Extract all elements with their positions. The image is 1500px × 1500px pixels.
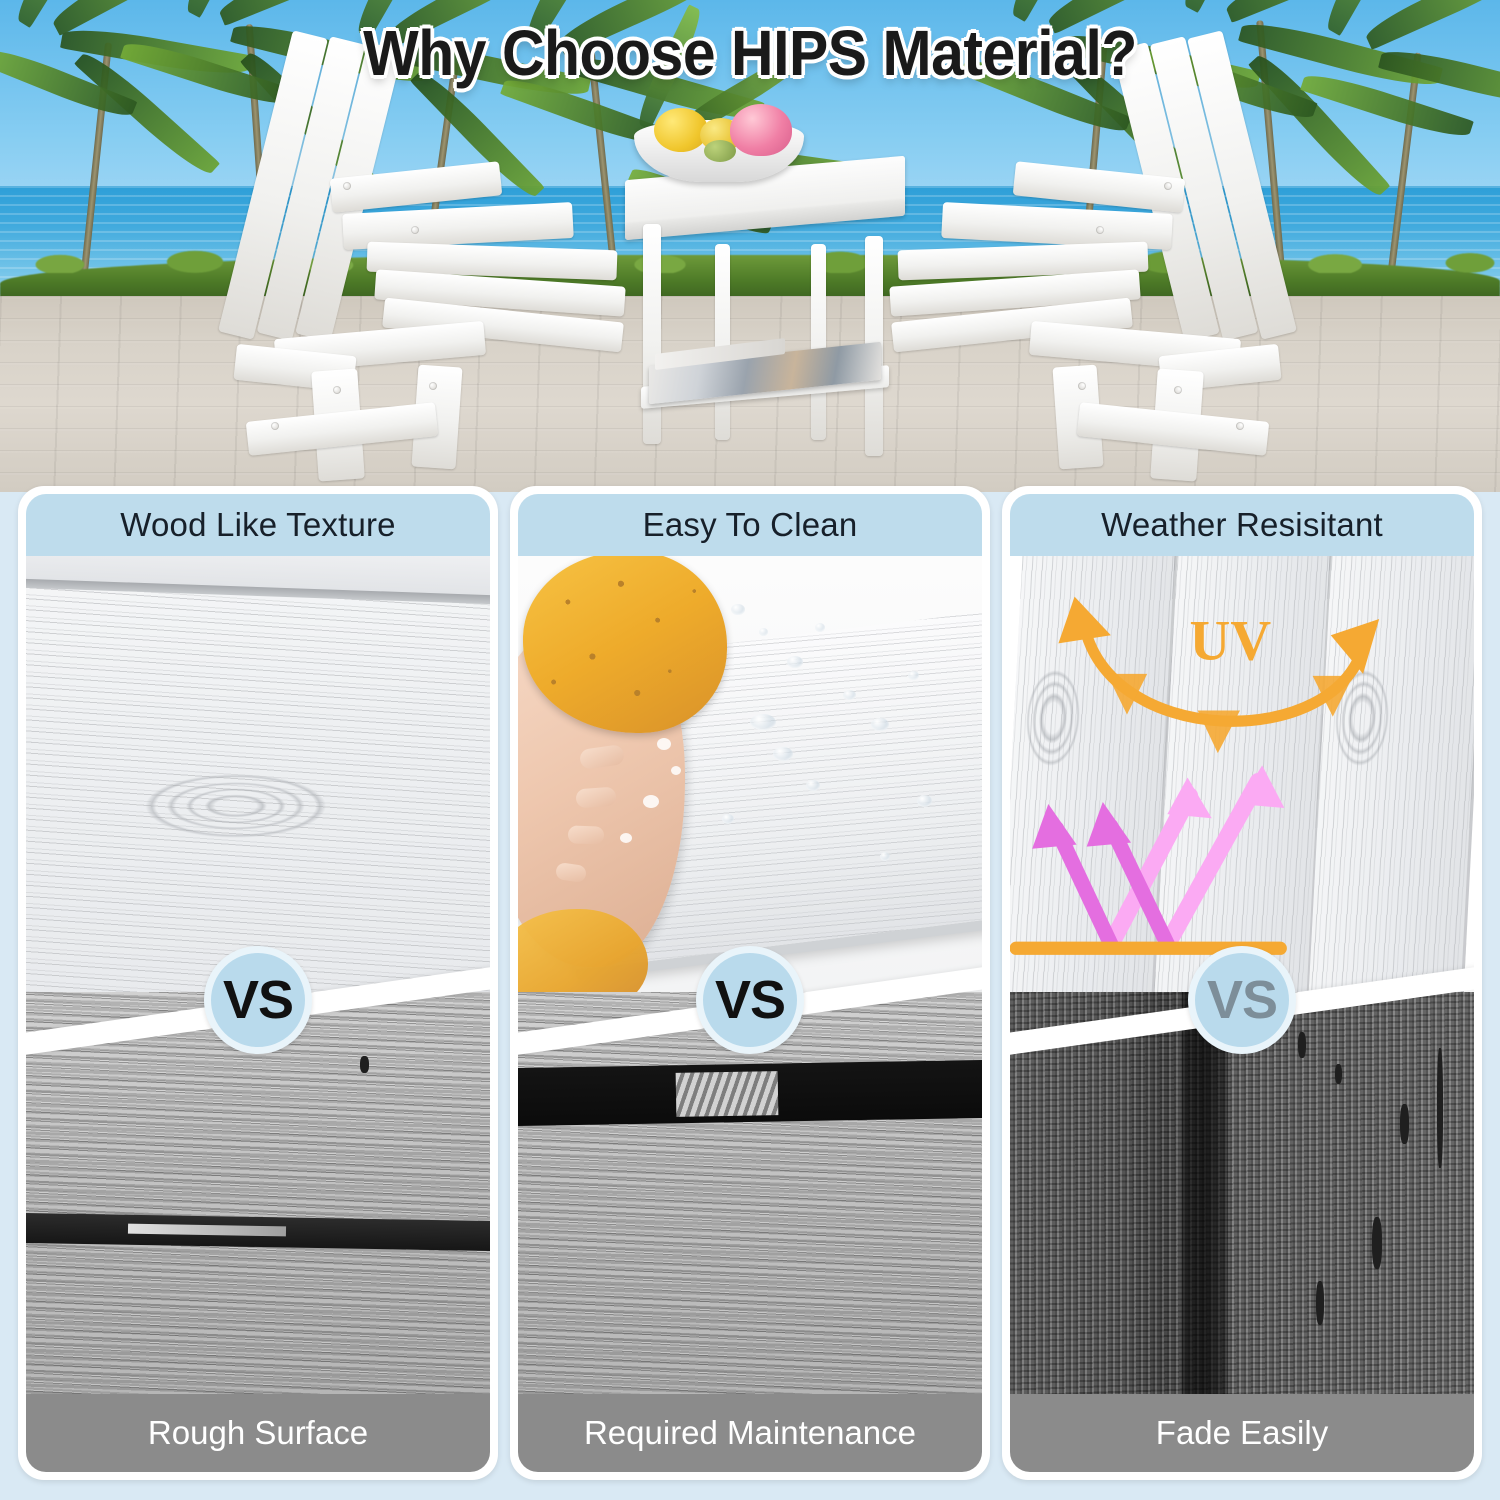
card-header-wood-like-texture: Wood Like Texture: [26, 494, 490, 556]
card-weather-resistant[interactable]: Weather Resisitant: [1002, 486, 1482, 1480]
berry-fruit: [704, 140, 736, 162]
comparison-cards: Wood Like Texture VS: [0, 486, 1500, 1500]
page-title: Why Choose HIPS Material?: [60, 16, 1440, 90]
card-easy-to-clean[interactable]: Easy To Clean: [510, 486, 990, 1480]
hero-banner: Why Choose HIPS Material?: [0, 0, 1500, 492]
adirondack-chair-left: [215, 30, 635, 460]
card-body-wood-like-texture: VS: [26, 556, 490, 1394]
adirondack-chair-right: [880, 30, 1300, 460]
card-body-weather-resistant: UV: [1010, 556, 1474, 1394]
card-footer-fade-easily: Fade Easily: [1010, 1394, 1474, 1472]
vs-badge-wood-like-texture: VS: [204, 946, 312, 1054]
vs-badge-weather-resistant: VS: [1188, 946, 1296, 1054]
card-header-easy-to-clean: Easy To Clean: [518, 494, 982, 556]
infographic-page: Why Choose HIPS Material? Wood Like Text…: [0, 0, 1500, 1500]
vs-badge-easy-to-clean: VS: [696, 946, 804, 1054]
pink-fruit: [730, 104, 792, 156]
card-footer-required-maintenance: Required Maintenance: [518, 1394, 982, 1472]
card-header-weather-resistant: Weather Resisitant: [1010, 494, 1474, 556]
card-footer-rough-surface: Rough Surface: [26, 1394, 490, 1472]
card-wood-like-texture[interactable]: Wood Like Texture VS: [18, 486, 498, 1480]
card-body-easy-to-clean: VS: [518, 556, 982, 1394]
side-table: [615, 140, 915, 470]
